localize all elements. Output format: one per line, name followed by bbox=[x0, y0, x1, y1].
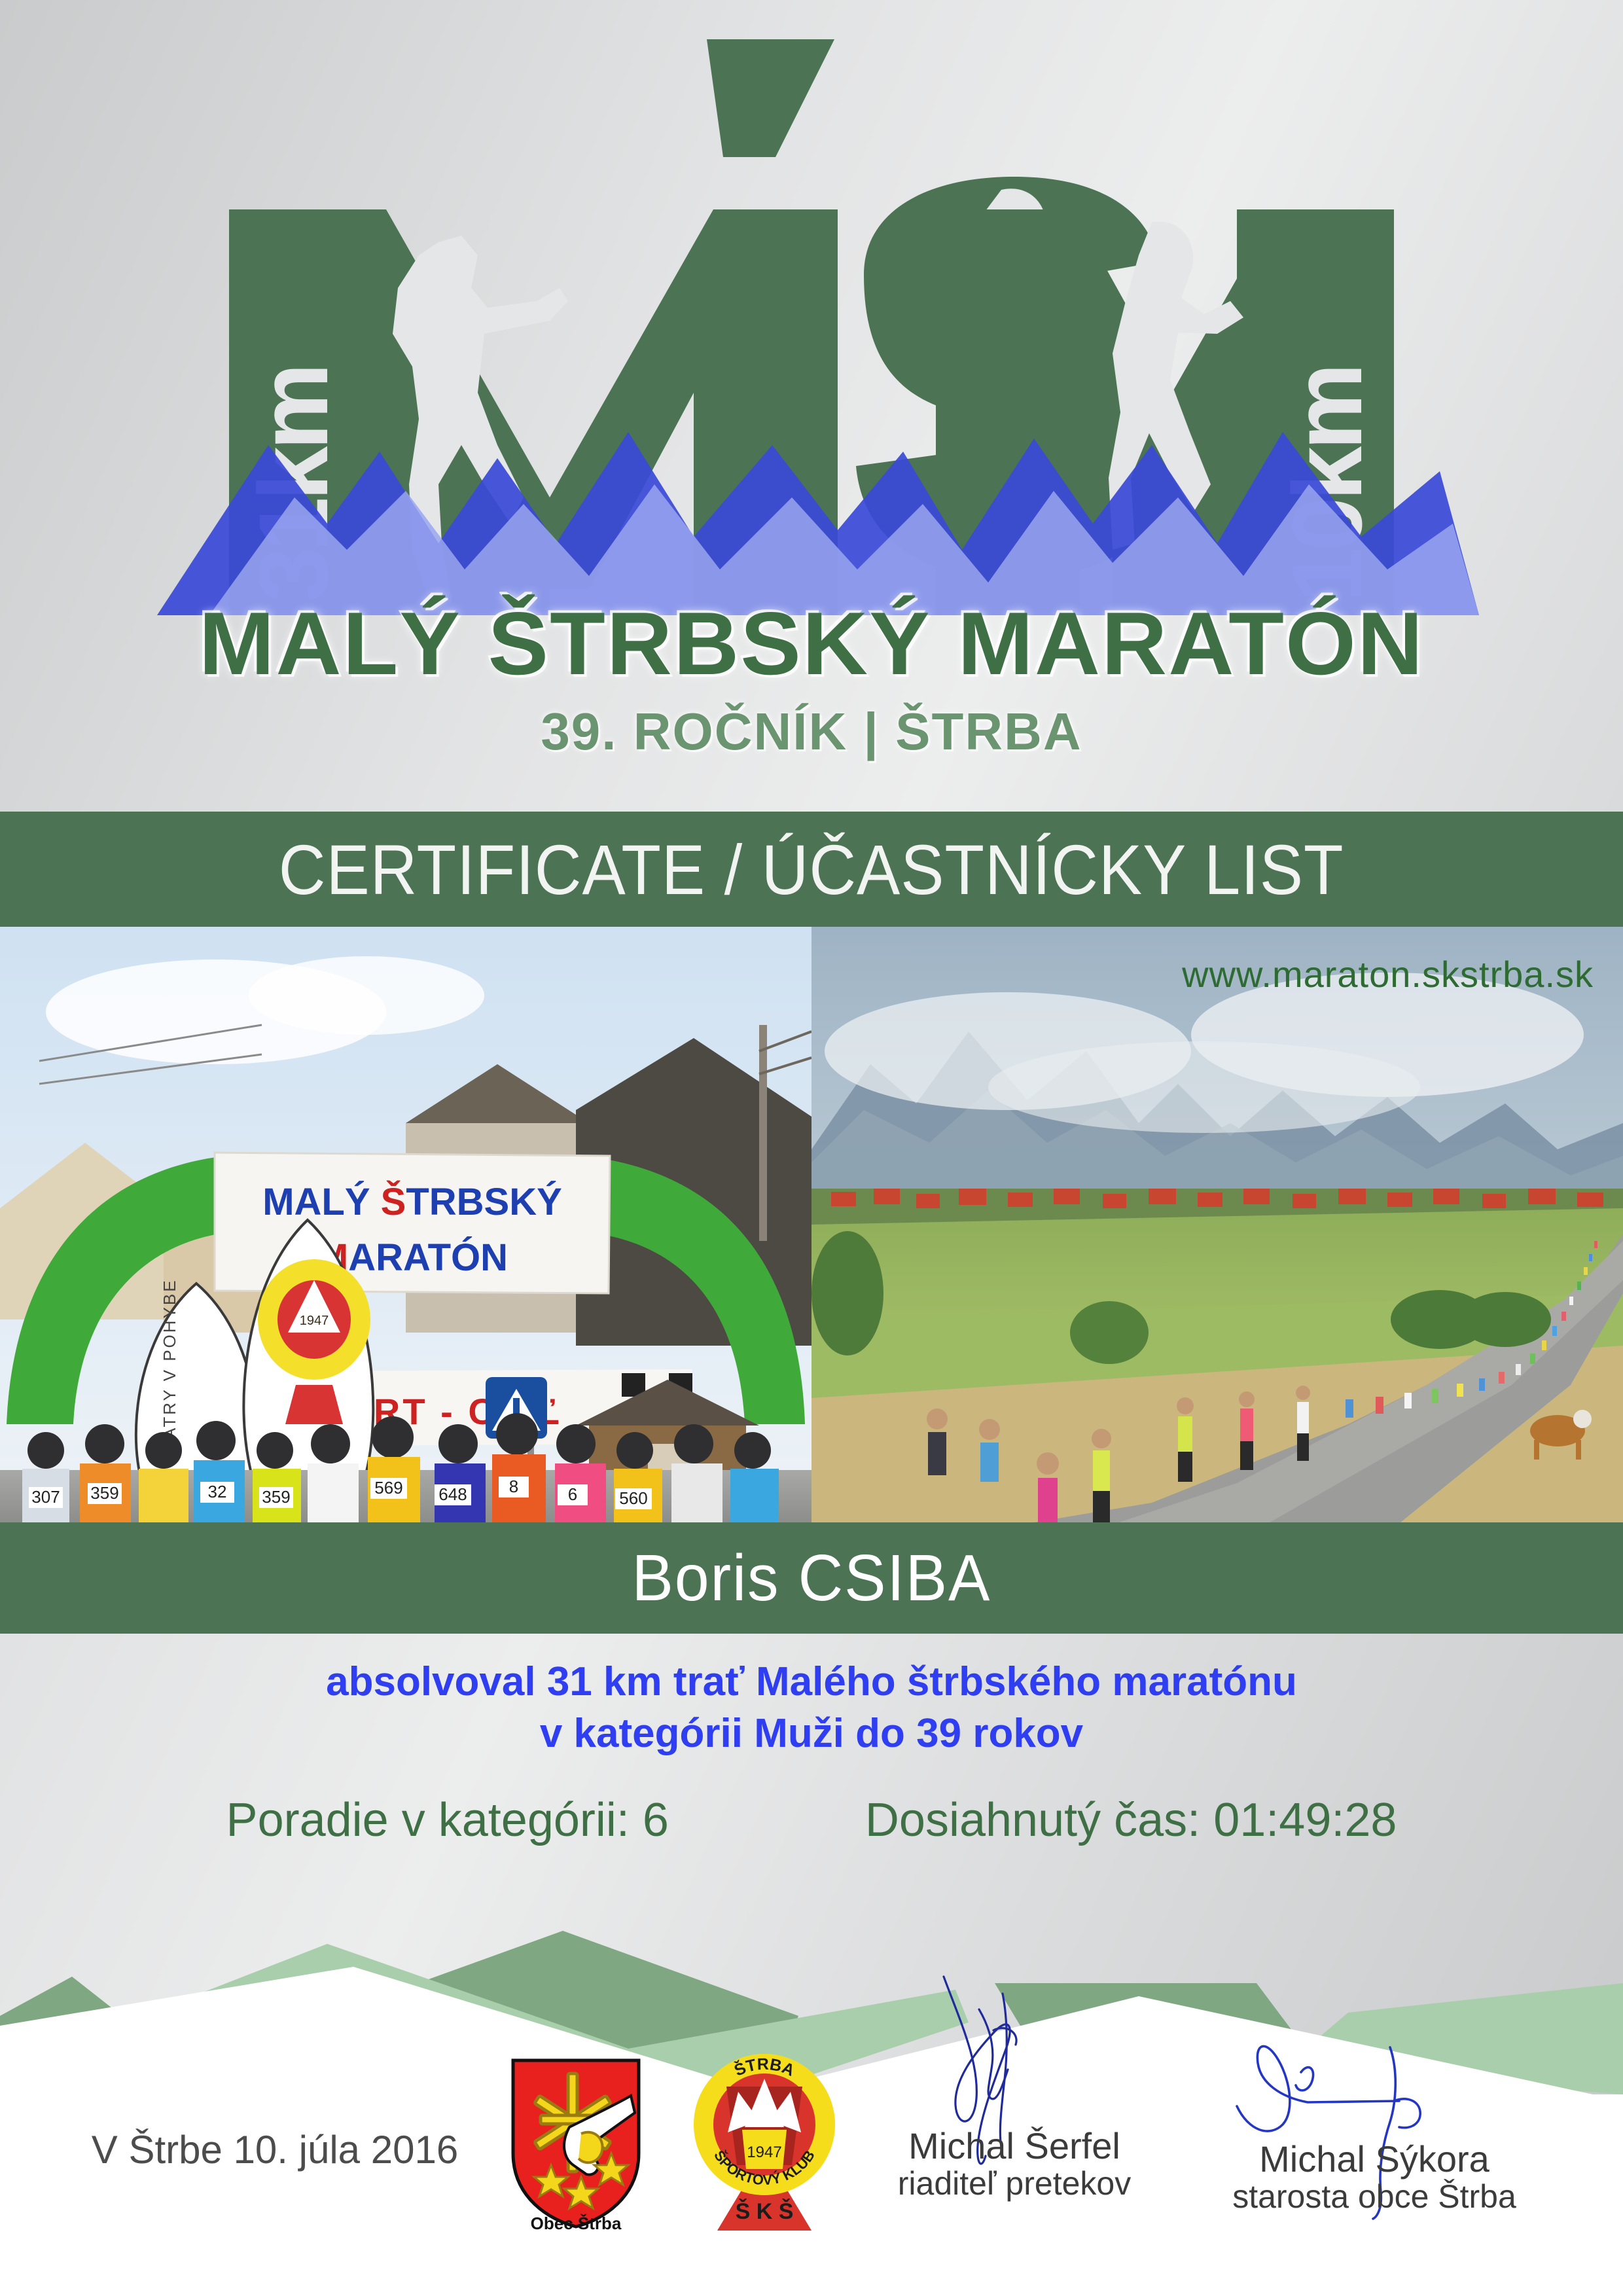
signatory-2-name: Michal Sýkora bbox=[1204, 2140, 1544, 2179]
sks-club-logo: 1947 ŠTRBA ŠPORTOVÝ KLUB Š K Š bbox=[687, 2041, 842, 2238]
svg-text:1947: 1947 bbox=[300, 1314, 329, 1328]
photo-country-road bbox=[811, 927, 1623, 1522]
signatory-2-role: starosta obce Štrba bbox=[1204, 2179, 1544, 2215]
arch-banner-line1: MALÝ ŠTRBSKÝ bbox=[262, 1181, 562, 1223]
svg-text:560: 560 bbox=[619, 1488, 647, 1508]
event-edition: 39. ROČNÍK | ŠTRBA bbox=[0, 702, 1623, 762]
finish-time: Dosiahnutý čas: 01:49:28 bbox=[865, 1793, 1397, 1847]
caron-accent bbox=[707, 39, 834, 157]
results-row: Poradie v kategórii: 6 Dosiahnutý čas: 0… bbox=[0, 1793, 1623, 1847]
svg-text:648: 648 bbox=[438, 1484, 467, 1504]
svg-text:359: 359 bbox=[90, 1483, 118, 1503]
svg-text:32: 32 bbox=[208, 1482, 227, 1501]
signature-block-1: Michal Šerfel riaditeľ pretekov bbox=[844, 2127, 1185, 2202]
signature-block-2: Michal Sýkora starosta obce Štrba bbox=[1204, 2140, 1544, 2215]
description-line-1: absolvoval 31 km trať Malého štrbského m… bbox=[0, 1656, 1623, 1708]
issue-date: V Štrbe 10. júla 2016 bbox=[65, 2127, 484, 2172]
obec-strba-crest: Obec Štrba bbox=[504, 2055, 648, 2232]
signatory-1-role: riaditeľ pretekov bbox=[844, 2166, 1185, 2202]
svg-text:6: 6 bbox=[568, 1484, 577, 1504]
certificate-title-banner: CERTIFICATE / ÚČASTNÍCKY LIST bbox=[0, 812, 1623, 927]
svg-text:359: 359 bbox=[262, 1487, 290, 1507]
photo-strip: MALÝ ŠTRBSKÝ MARATÓN ŠTART - CIEĽ TATRY … bbox=[0, 927, 1623, 1522]
photo-race-start: MALÝ ŠTRBSKÝ MARATÓN ŠTART - CIEĽ TATRY … bbox=[0, 927, 811, 1522]
crest-caption: Obec Štrba bbox=[531, 2214, 622, 2232]
signatory-1-name: Michal Šerfel bbox=[844, 2127, 1185, 2166]
website-url[interactable]: www.maraton.skstrba.sk bbox=[1182, 953, 1594, 996]
flag-left-text: TATRY V POHYBE bbox=[160, 1278, 179, 1450]
certificate-title: CERTIFICATE / ÚČASTNÍCKY LIST bbox=[279, 829, 1344, 910]
sks-initials: Š K Š bbox=[736, 2198, 794, 2224]
svg-text:569: 569 bbox=[374, 1478, 402, 1498]
sks-year: 1947 bbox=[747, 2144, 781, 2161]
description-line-2: v kategórii Muži do 39 rokov bbox=[0, 1708, 1623, 1759]
event-logo-area: 31km 10km MALÝ ŠTRBSKÝ M bbox=[0, 0, 1623, 812]
event-title: MALÝ ŠTRBSKÝ MARATÓN bbox=[0, 592, 1623, 694]
participant-name: Boris CSIBA bbox=[632, 1541, 991, 1616]
svg-text:307: 307 bbox=[31, 1487, 60, 1507]
category-rank: Poradie v kategórii: 6 bbox=[226, 1793, 669, 1847]
participant-description: absolvoval 31 km trať Malého štrbského m… bbox=[0, 1656, 1623, 1760]
certificate-page: 31km 10km MALÝ ŠTRBSKÝ M bbox=[0, 0, 1623, 2296]
svg-text:8: 8 bbox=[509, 1477, 518, 1496]
participant-name-banner: Boris CSIBA bbox=[0, 1522, 1623, 1634]
